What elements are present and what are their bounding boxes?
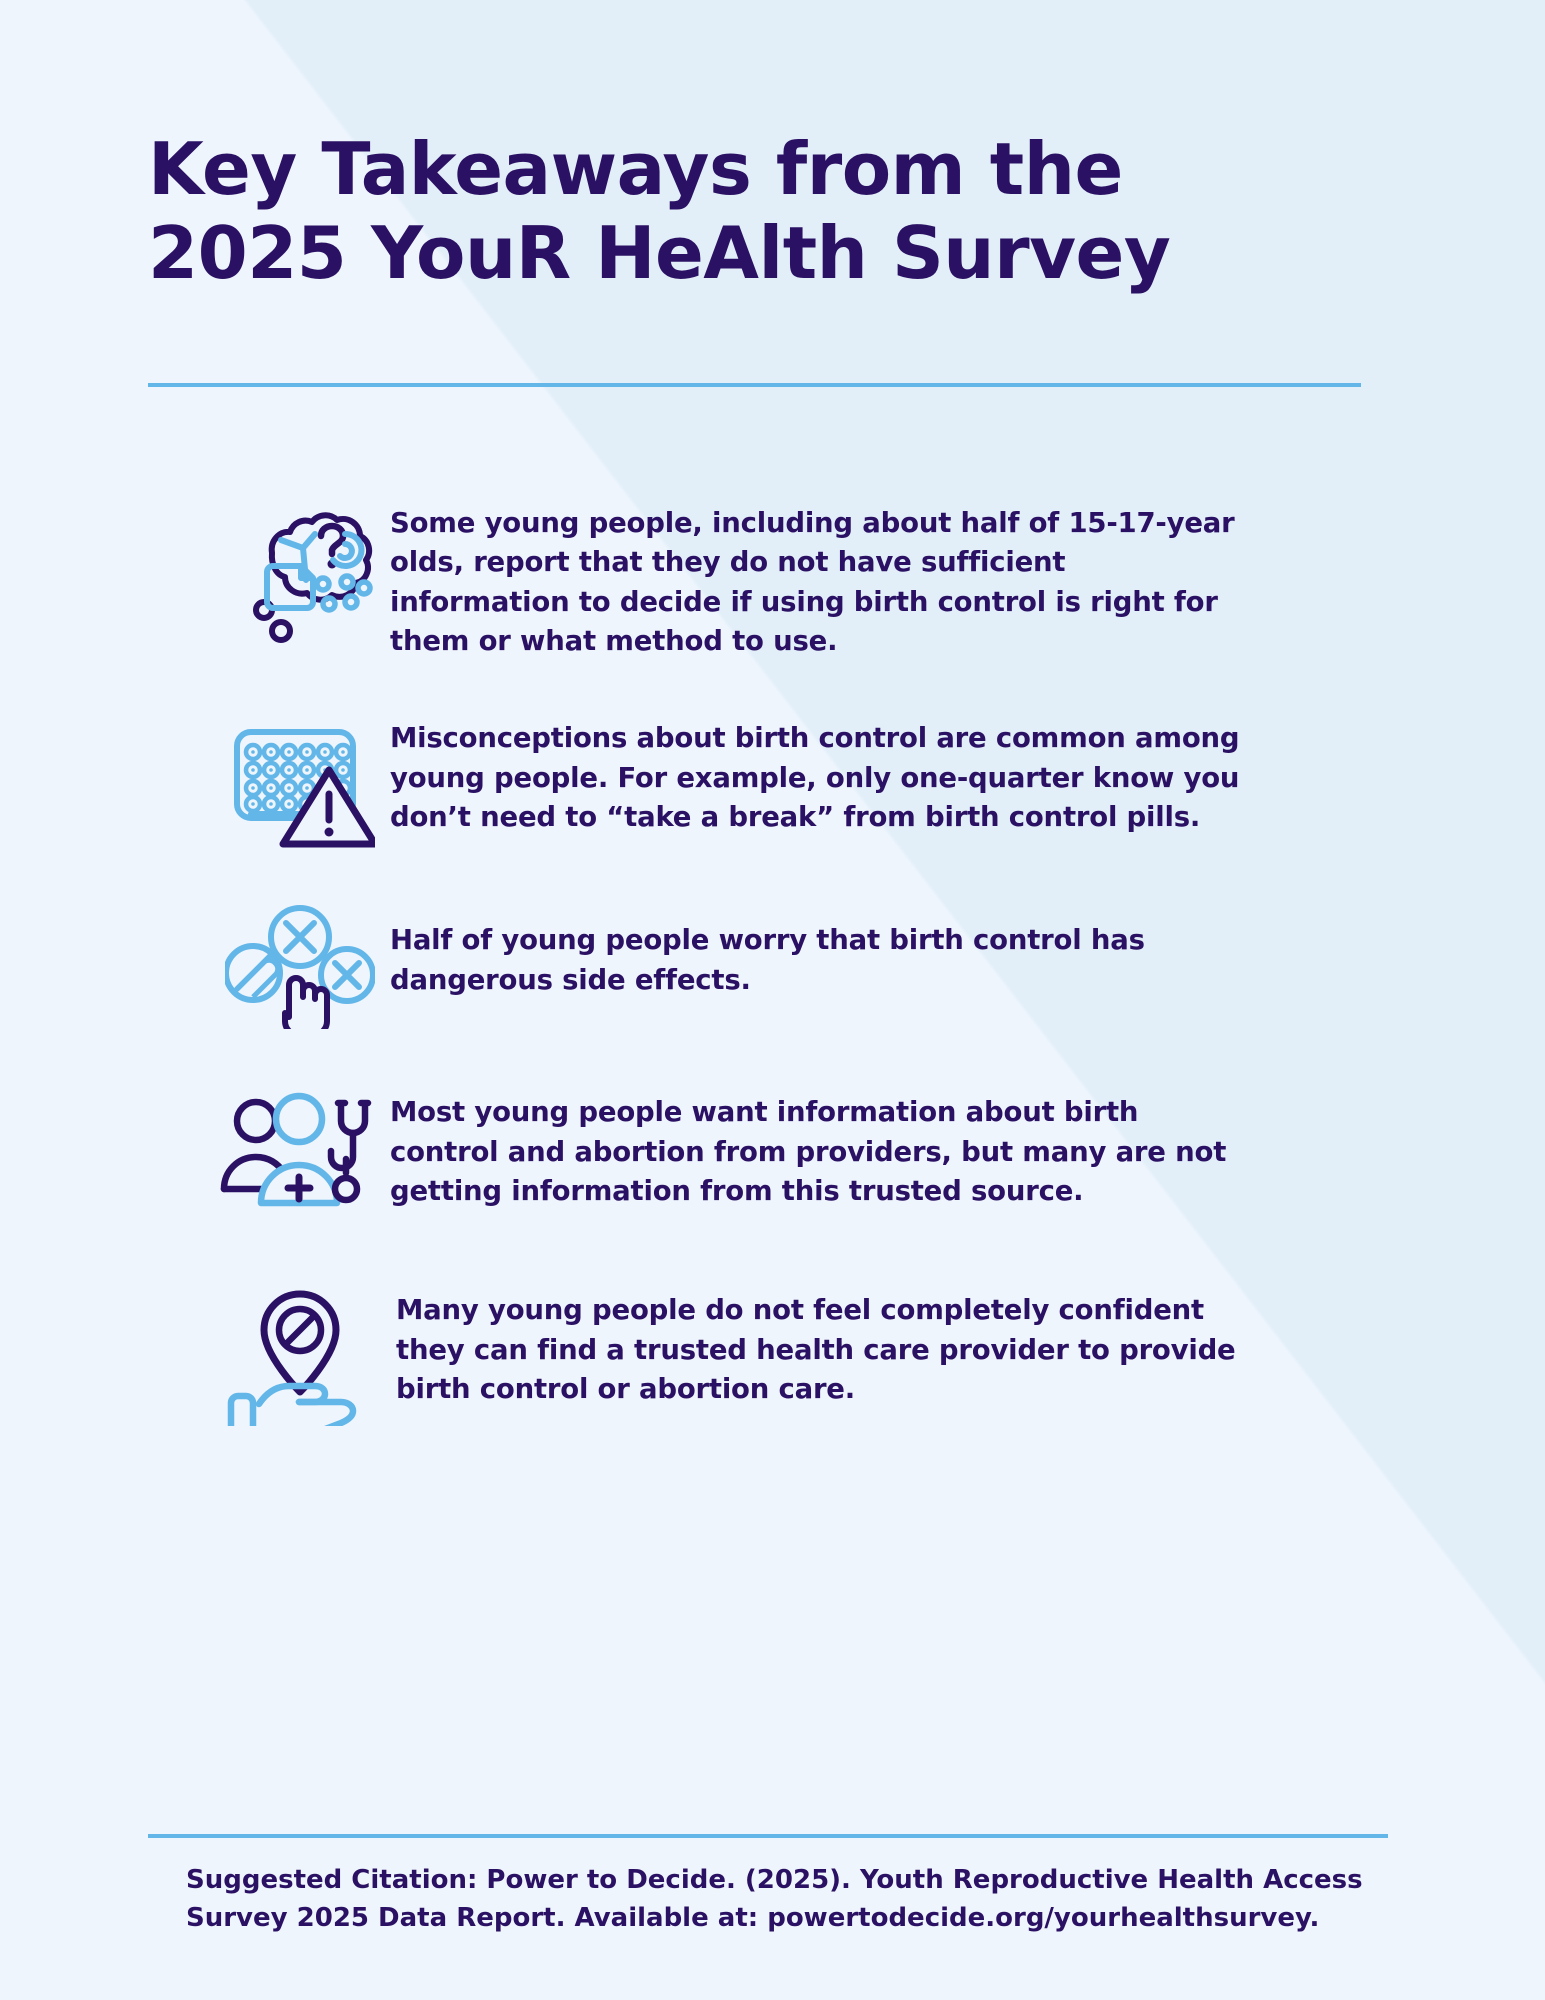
crossed-out-options-hand-icon: [210, 889, 390, 1039]
list-item-text: Most young people want information about…: [390, 1075, 1240, 1211]
infographic-page: Key Takeaways from the 2025 YouR HeAlth …: [0, 0, 1545, 2000]
title-divider: [148, 383, 1361, 387]
pill-pack-warning-icon: [210, 705, 390, 855]
list-item: Some young people, including about half …: [210, 498, 1390, 661]
list-item: Most young people want information about…: [210, 1075, 1390, 1225]
patient-provider-stethoscope-icon: [210, 1075, 390, 1225]
citation-line-1: Suggested Citation: Power to Decide. (20…: [186, 1862, 1386, 1900]
list-item-text: Some young people, including about half …: [390, 498, 1240, 661]
footer-divider: [148, 1834, 1388, 1838]
list-item: Many young people do not feel completely…: [210, 1281, 1390, 1431]
header: Key Takeaways from the 2025 YouR HeAlth …: [148, 128, 1388, 295]
list-item-text: Half of young people worry that birth co…: [390, 889, 1240, 1000]
takeaway-list: Some young people, including about half …: [210, 498, 1390, 1483]
citation-line-2: Survey 2025 Data Report. Available at: p…: [186, 1900, 1386, 1938]
suggested-citation: Suggested Citation: Power to Decide. (20…: [186, 1862, 1386, 1937]
list-item-text: Misconceptions about birth control are c…: [390, 705, 1240, 837]
list-item: Half of young people worry that birth co…: [210, 889, 1390, 1039]
page-title: Key Takeaways from the 2025 YouR HeAlth …: [148, 128, 1388, 295]
page-content: Key Takeaways from the 2025 YouR HeAlth …: [0, 0, 1545, 2000]
location-pin-blocked-hand-icon: [210, 1281, 390, 1431]
list-item: Misconceptions about birth control are c…: [210, 705, 1390, 855]
thought-bubble-question-icon: [210, 498, 390, 648]
list-item-text: Many young people do not feel completely…: [390, 1281, 1246, 1409]
